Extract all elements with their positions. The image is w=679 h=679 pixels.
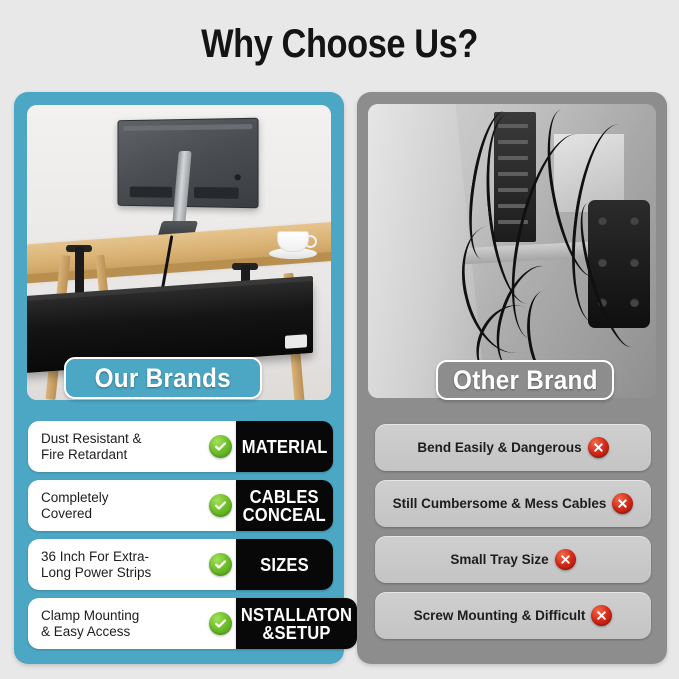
our-brand-label: Our Brands [95,363,231,394]
check-circle-icon [209,612,232,635]
check-circle-icon [209,494,232,517]
drawback-row: Small Tray Size [375,536,651,583]
our-brand-feature-list: Dust Resistant & Fire Retardant MATERIAL… [28,421,333,657]
other-brand-badge: Other Brand [436,360,614,400]
other-brand-drawback-list: Bend Easily & Dangerous Still Cumbersome… [375,424,651,648]
feature-category-label: CABLES CONCEAL [243,488,326,524]
feature-category-box: MATERIAL [236,421,333,472]
feature-category-box: SIZES [236,539,333,590]
feature-category-label: SIZES [260,556,309,574]
drawback-label: Bend Easily & Dangerous [417,440,581,455]
feature-row: Clamp Mounting & Easy Access NSTALLATON … [28,598,333,649]
drawback-row: Still Cumbersome & Mess Cables [375,480,651,527]
feature-text-pill: Completely Covered [28,480,236,531]
cross-circle-icon [588,437,609,458]
feature-label: Completely Covered [41,490,205,522]
check-circle-icon [209,435,232,458]
feature-label: 36 Inch For Extra- Long Power Strips [41,549,205,581]
cross-circle-icon [555,549,576,570]
monitor-power-dot [235,174,241,180]
other-brand-label: Other Brand [453,365,598,396]
our-brand-badge: Our Brands [64,357,262,399]
page-title: Why Choose Us? [48,22,632,67]
tray-plug [285,334,307,349]
cross-circle-icon [612,493,633,514]
feature-row: 36 Inch For Extra- Long Power Strips SIZ… [28,539,333,590]
other-brand-photo [368,104,656,398]
monitor-vent-left [130,186,172,197]
feature-category-box: NSTALLATON &SETUP [236,598,357,649]
feature-category-label: NSTALLATON &SETUP [241,606,352,642]
feature-row: Dust Resistant & Fire Retardant MATERIAL [28,421,333,472]
feature-text-pill: 36 Inch For Extra- Long Power Strips [28,539,236,590]
monitor-top-strip [123,124,252,131]
feature-text-pill: Dust Resistant & Fire Retardant [28,421,236,472]
feature-label: Dust Resistant & Fire Retardant [41,431,205,463]
messy-cable-scene-illustration [368,104,656,398]
cup-handle [304,235,317,248]
drawback-row: Screw Mounting & Difficult [375,592,651,639]
feature-row: Completely Covered CABLES CONCEAL [28,480,333,531]
feature-label: Clamp Mounting & Easy Access [41,608,205,640]
desk-scene-illustration [27,105,331,400]
feature-text-pill: Clamp Mounting & Easy Access [28,598,236,649]
our-brand-photo [27,105,331,400]
cross-circle-icon [591,605,612,626]
feature-category-label: MATERIAL [242,438,328,456]
drawback-label: Small Tray Size [450,552,548,567]
drawback-row: Bend Easily & Dangerous [375,424,651,471]
monitor-vent-right [194,187,239,199]
feature-category-box: CABLES CONCEAL [236,480,333,531]
drawback-label: Still Cumbersome & Mess Cables [393,496,607,511]
drawback-label: Screw Mounting & Difficult [414,608,586,623]
check-circle-icon [209,553,232,576]
